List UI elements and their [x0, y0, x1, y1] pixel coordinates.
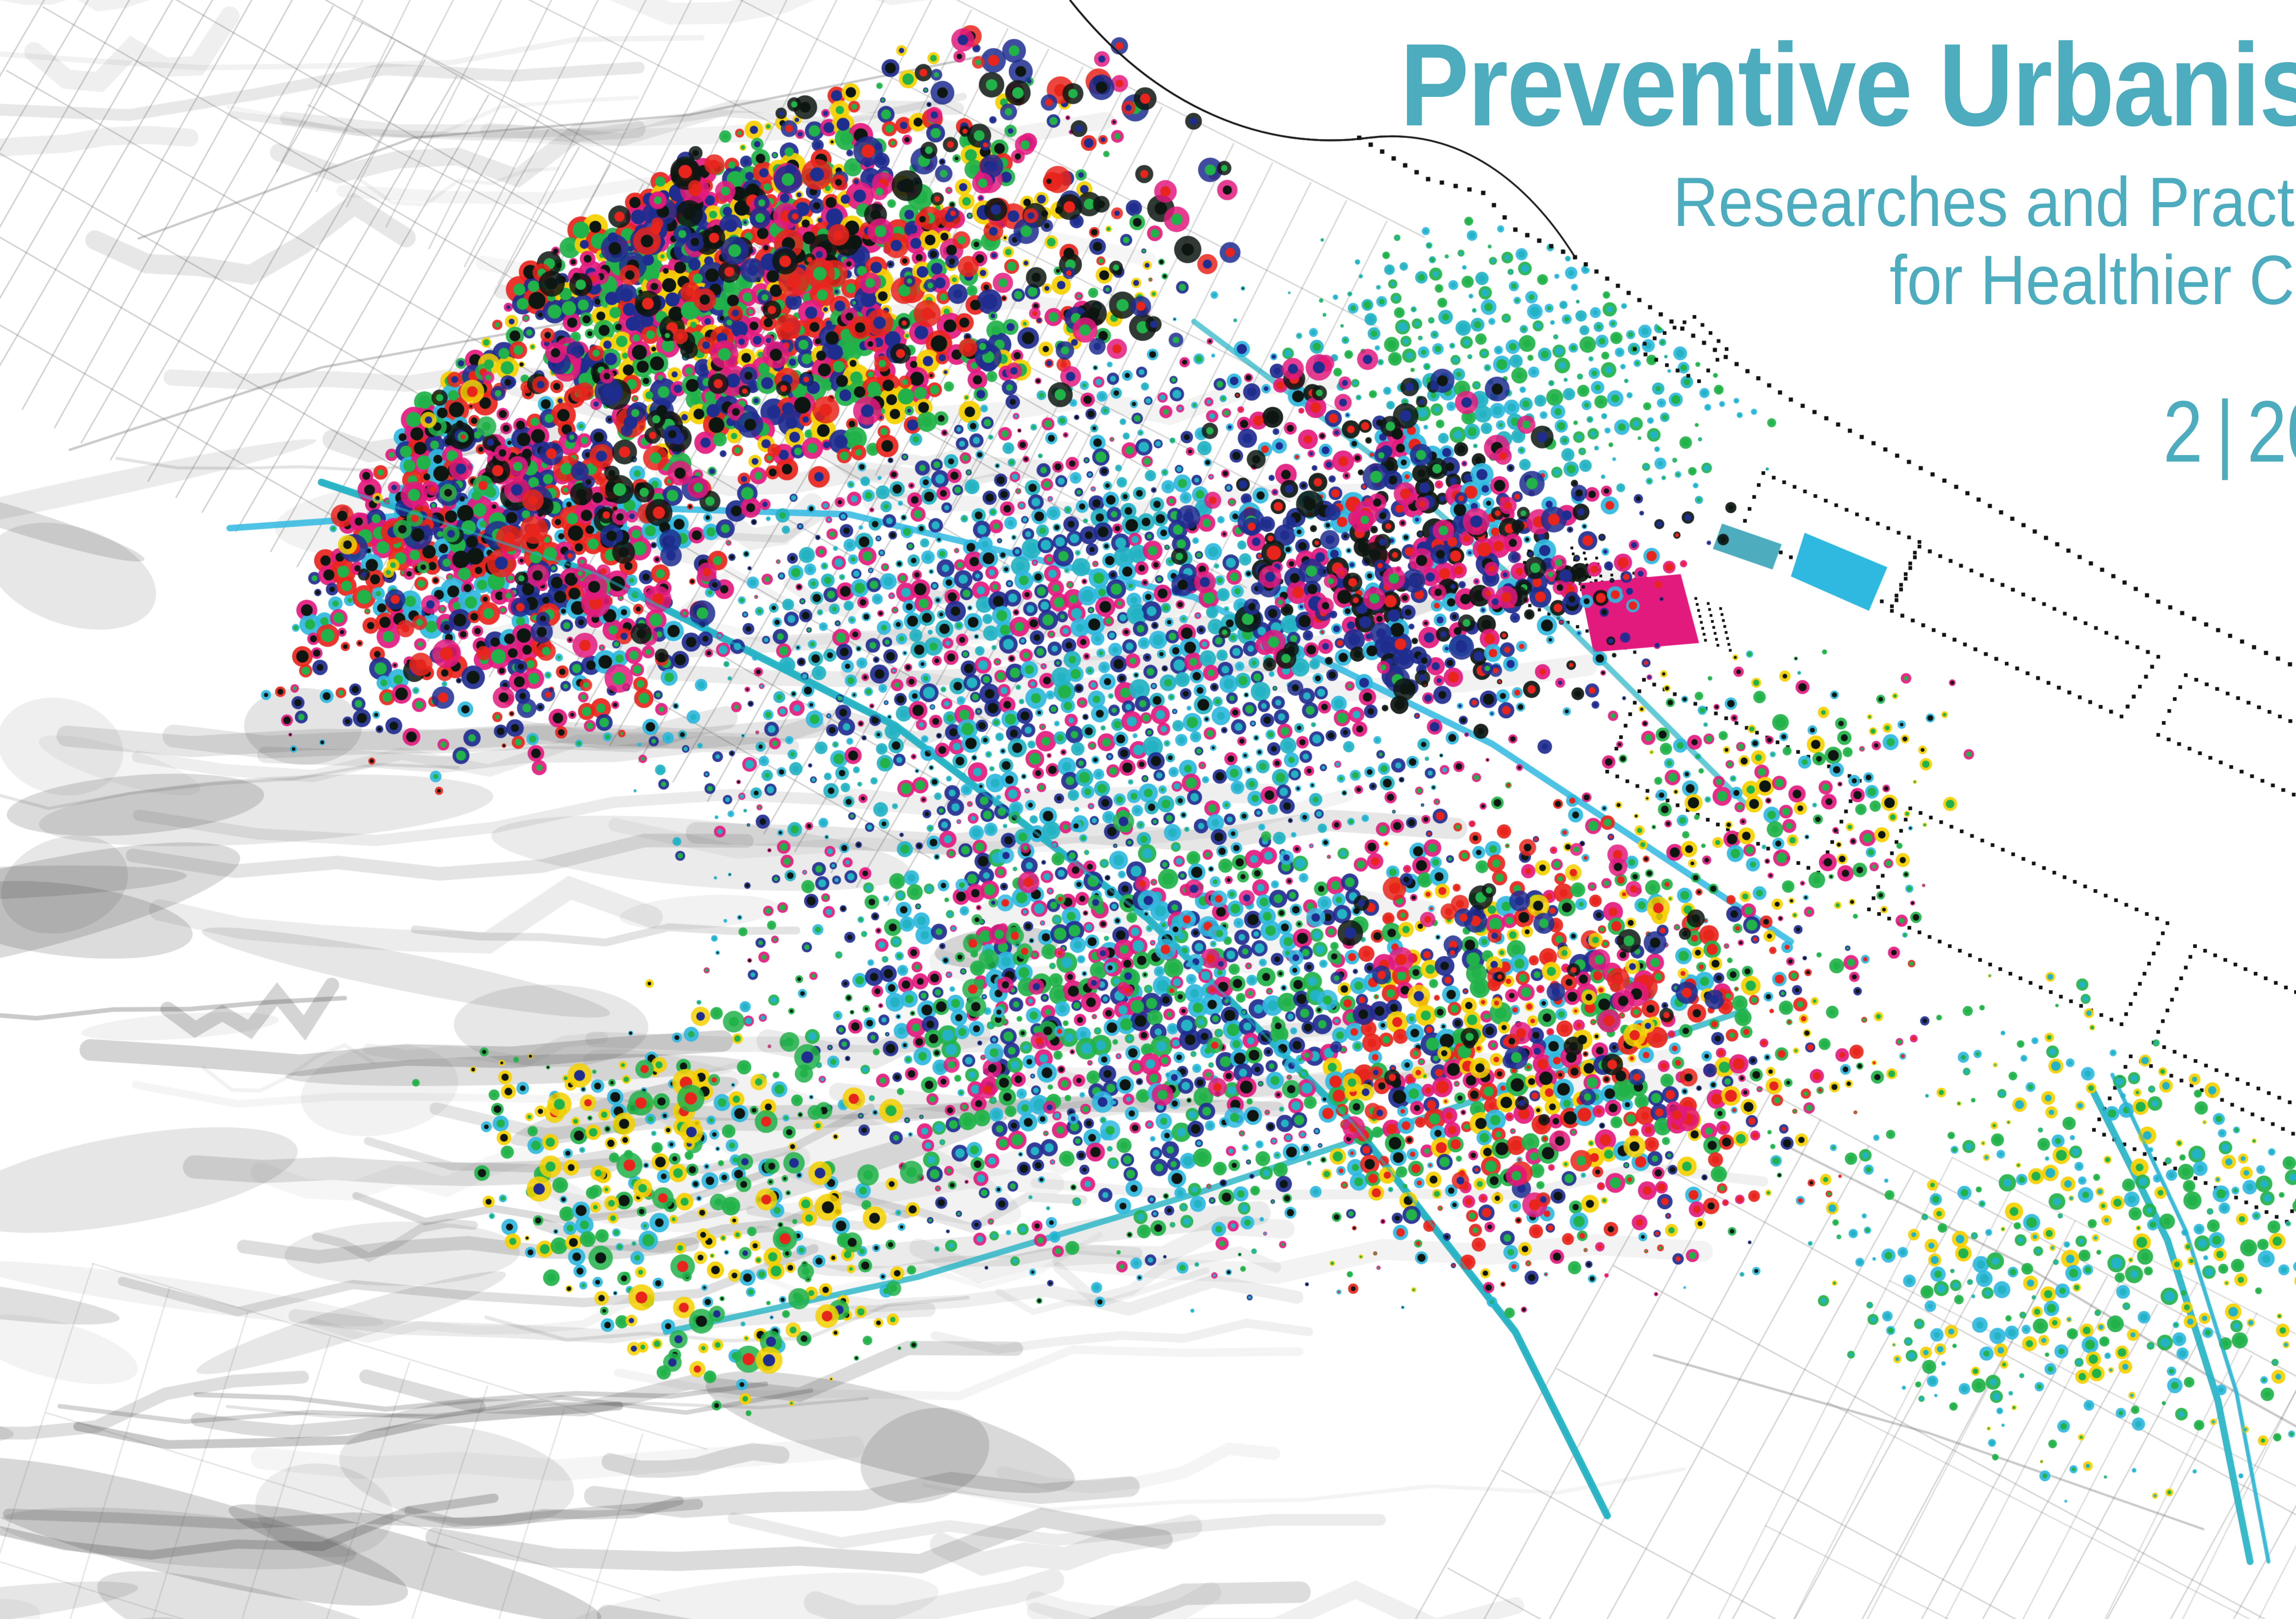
thematic-dot-map: [0, 0, 2296, 1619]
journal-cover: Preventive Urbanism Researches and Pract…: [0, 0, 2296, 1619]
map-artwork: [0, 0, 2296, 1619]
